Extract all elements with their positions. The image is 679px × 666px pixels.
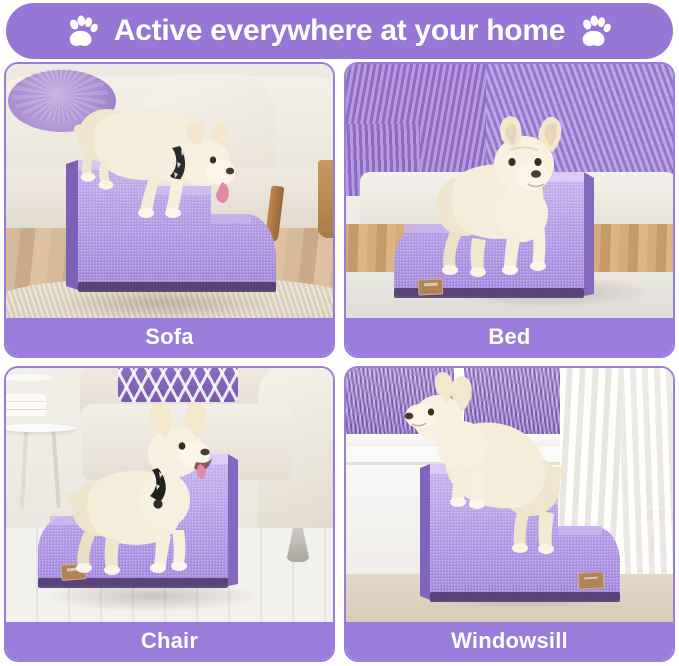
scene-label-bar: Chair (6, 622, 333, 660)
scene-label-bed: Bed (488, 326, 530, 348)
scene-photo-bed (346, 64, 673, 322)
scene-card-bed[interactable]: Bed (344, 62, 675, 358)
header-banner: Active everywhere at your home (6, 3, 673, 59)
scene-label-bar: Bed (346, 318, 673, 356)
scene-photo-windowsill (346, 368, 673, 626)
page-title: Active everywhere at your home (114, 16, 565, 46)
dog-on-stairs (346, 368, 673, 626)
dog-on-stairs (6, 64, 333, 322)
scene-label-sofa: Sofa (145, 326, 193, 348)
dog-on-stairs (6, 368, 333, 626)
dog-on-stairs (346, 64, 673, 322)
scene-card-windowsill[interactable]: Windowsill (344, 366, 675, 662)
product-infographic: Active everywhere at your home (0, 0, 679, 666)
scene-label-bar: Sofa (6, 318, 333, 356)
scene-photo-sofa (6, 64, 333, 322)
scene-card-chair[interactable]: Chair (4, 366, 335, 662)
paw-icon (579, 14, 613, 48)
scene-photo-chair (6, 368, 333, 626)
scene-card-grid: Sofa (4, 62, 675, 662)
scene-label-chair: Chair (141, 630, 198, 652)
paw-icon (66, 14, 100, 48)
scene-card-sofa[interactable]: Sofa (4, 62, 335, 358)
scene-label-bar: Windowsill (346, 622, 673, 660)
scene-label-windowsill: Windowsill (451, 630, 568, 652)
